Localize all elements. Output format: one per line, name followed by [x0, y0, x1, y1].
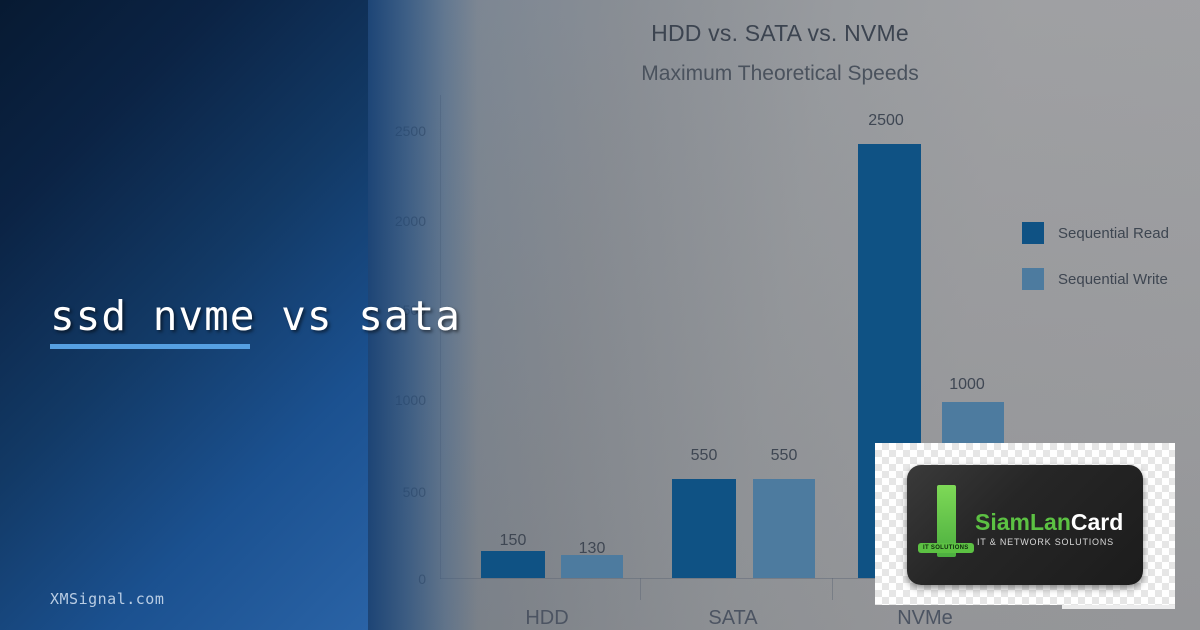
- logo-wordmark: SiamLanCard: [975, 509, 1123, 536]
- x-axis-separator: [640, 578, 641, 600]
- screenshot-canvas: HDD vs. SATA vs. NVMe Maximum Theoretica…: [0, 0, 1200, 630]
- legend-label: Sequential Write: [1058, 271, 1168, 288]
- logo-tagline: IT & NETWORK SOLUTIONS: [977, 537, 1114, 547]
- legend-item-sequential-write[interactable]: Sequential Write: [1022, 268, 1200, 290]
- bar-hdd-read: [481, 551, 545, 578]
- bar-sata-read: [672, 479, 736, 578]
- bar-value-label: 1000: [949, 376, 985, 394]
- bar-value-label: 150: [500, 532, 527, 550]
- legend-swatch-icon: [1022, 268, 1044, 290]
- overlay-accent-rule: [50, 344, 250, 349]
- bar-value-label: 550: [771, 447, 798, 465]
- legend-item-sequential-read[interactable]: Sequential Read: [1022, 222, 1200, 244]
- site-watermark: XMSignal.com: [50, 590, 164, 608]
- bar-value-label: 130: [579, 540, 606, 558]
- logo-overlay: IT SOLUTIONS SiamLanCard IT & NETWORK SO…: [875, 443, 1175, 605]
- x-axis-separator: [832, 578, 833, 600]
- bar-value-label: 2500: [868, 112, 904, 130]
- logo-card: IT SOLUTIONS SiamLanCard IT & NETWORK SO…: [907, 465, 1143, 585]
- overlay-headline: ssd nvme vs sata: [50, 292, 461, 340]
- chart-legend: Sequential Read Sequential Write: [1022, 222, 1200, 314]
- logo-wordmark-part2: Card: [1071, 509, 1123, 535]
- logo-wordmark-part1: SiamLan: [975, 509, 1071, 535]
- legend-label: Sequential Read: [1058, 225, 1169, 242]
- x-category-label-nvme: NVMe: [897, 607, 953, 630]
- chart-title: HDD vs. SATA vs. NVMe: [360, 20, 1200, 47]
- chart-subtitle: Maximum Theoretical Speeds: [360, 62, 1200, 86]
- legend-swatch-icon: [1022, 222, 1044, 244]
- bar-sata-write: [753, 479, 815, 578]
- logo-badge: IT SOLUTIONS: [918, 543, 974, 553]
- bar-value-label: 550: [691, 447, 718, 465]
- x-category-label-hdd: HDD: [525, 607, 568, 630]
- x-category-label-sata: SATA: [708, 607, 757, 630]
- bar-hdd-write: [561, 555, 623, 578]
